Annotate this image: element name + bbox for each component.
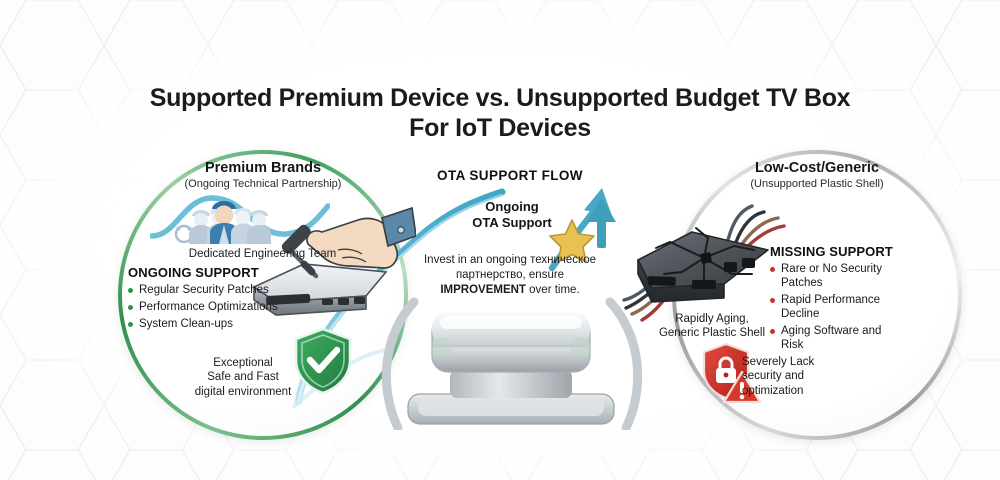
right-subheading: (Unsupported Plastic Shell) xyxy=(702,178,932,191)
paragraph-pre: Invest in an ongoing техническое партнер… xyxy=(424,254,596,281)
paragraph-post: over time. xyxy=(526,284,580,296)
ota-support-label: Ongoing OTA Support xyxy=(432,199,592,230)
cracked-device-wires-icon xyxy=(612,202,792,328)
ota-flow-title: OTA SUPPORT FLOW xyxy=(400,168,620,183)
list-item: Regular Security Patches xyxy=(128,283,278,297)
left-heading: Premium Brands xyxy=(148,160,378,177)
right-heading: Low-Cost/Generic xyxy=(702,160,932,177)
left-bullet-list: Regular Security Patches Performance Opt… xyxy=(128,283,278,331)
left-subheading: (Ongoing Technical Partnership) xyxy=(148,178,378,191)
right-section-title: MISSING SUPPORT xyxy=(770,244,898,259)
page-title: Supported Premium Device vs. Unsupported… xyxy=(0,84,1000,143)
center-paragraph: Invest in an ongoing техническое партнер… xyxy=(415,253,605,298)
right-panel-header: Low-Cost/Generic (Unsupported Plastic Sh… xyxy=(702,160,932,191)
left-panel-header: Premium Brands (Ongoing Technical Partne… xyxy=(148,160,378,191)
pedestal-side-rails xyxy=(372,290,652,430)
infographic-canvas: Supported Premium Device vs. Unsupported… xyxy=(0,0,1000,480)
left-section-title: ONGOING SUPPORT xyxy=(128,265,278,280)
left-support-section: ONGOING SUPPORT Regular Security Patches… xyxy=(128,265,278,334)
list-item: Performance Optimizations xyxy=(128,300,278,314)
left-footer-caption: Exceptional Safe and Fast digital enviro… xyxy=(168,356,318,399)
list-item: Rare or No Security Patches xyxy=(770,262,898,290)
paragraph-bold: IMPROVEMENT xyxy=(440,284,526,296)
left-team-caption: Dedicated Engineering Team xyxy=(150,247,375,261)
title-line-2: For IoT Devices xyxy=(0,114,1000,144)
right-support-section: MISSING SUPPORT Rare or No Security Patc… xyxy=(770,244,898,355)
list-item: Rapid Performance Decline xyxy=(770,293,898,321)
list-item: Aging Software and Risk xyxy=(770,324,898,352)
right-warning-caption: Severely Lack security and optimization xyxy=(742,355,882,398)
list-item: System Clean-ups xyxy=(128,317,278,331)
right-bullet-list: Rare or No Security Patches Rapid Perfor… xyxy=(770,262,898,352)
title-line-1: Supported Premium Device vs. Unsupported… xyxy=(0,84,1000,114)
